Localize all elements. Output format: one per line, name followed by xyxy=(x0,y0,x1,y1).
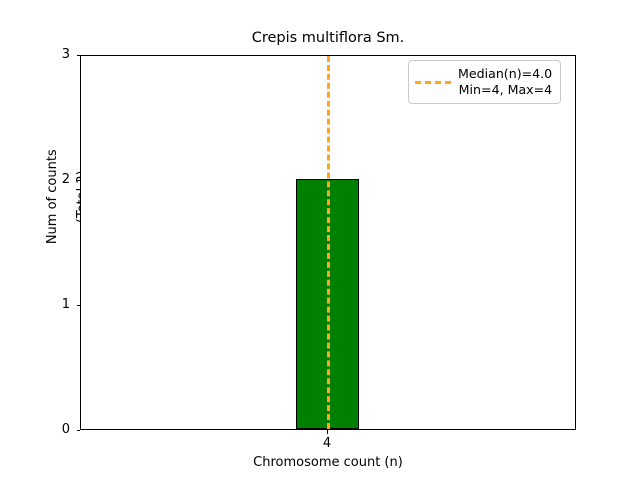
y-tick-label-3: 3 xyxy=(56,48,70,61)
x-tick-mark-4 xyxy=(327,430,328,434)
plot-area xyxy=(80,55,576,430)
chart-title: Crepis multiflora Sm. xyxy=(80,30,576,46)
y-tick-label-2: 2 xyxy=(56,173,70,186)
legend-dashed-line-icon xyxy=(415,81,451,84)
y-tick-mark-0 xyxy=(77,430,81,431)
legend-label-median: Median(n)=4.0 xyxy=(458,66,552,82)
y-axis-label-line1: Num of counts xyxy=(45,149,60,244)
legend-label-minmax: Min=4, Max=4 xyxy=(459,82,553,98)
y-tick-label-1: 1 xyxy=(56,298,70,311)
plot-clip xyxy=(81,56,575,429)
x-axis-label: Chromosome count (n) xyxy=(80,455,576,470)
x-tick-label-4: 4 xyxy=(323,436,331,451)
legend-entry-median: Median(n)=4.0 Min=4, Max=4 xyxy=(458,66,552,98)
chart-figure: Crepis multiflora Sm. Num of counts (Tot… xyxy=(0,0,640,480)
median-line xyxy=(327,56,330,429)
y-tick-label-0: 0 xyxy=(56,423,70,436)
legend: Median(n)=4.0 Min=4, Max=4 xyxy=(408,60,561,104)
